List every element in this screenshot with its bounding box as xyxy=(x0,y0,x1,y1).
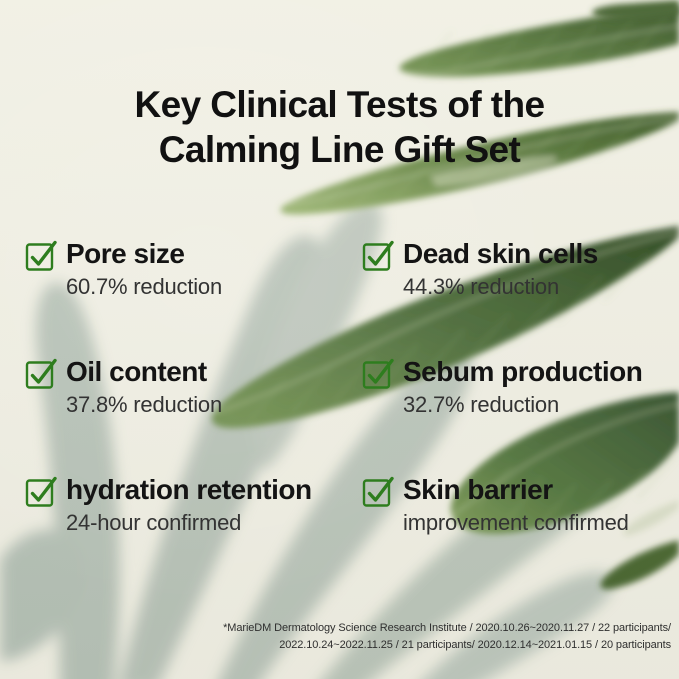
checklist-item-sebum-production: Sebum production 32.7% reduction xyxy=(363,354,642,419)
footnote-line-2: 2022.10.24~2022.11.25 / 21 participants/… xyxy=(11,637,671,654)
clinical-results-checklist: Pore size 60.7% reduction Dead skin cell… xyxy=(0,236,679,590)
checklist-item-head: hydration retention xyxy=(26,472,312,508)
checkbox-checked-icon xyxy=(363,477,393,507)
checklist-item-dead-skin-cells: Dead skin cells 44.3% reduction xyxy=(363,236,598,301)
poster-content: Key Clinical Tests of the Calming Line G… xyxy=(0,0,679,679)
clinical-test-poster: Key Clinical Tests of the Calming Line G… xyxy=(0,0,679,679)
checklist-item-label: Pore size xyxy=(66,236,184,272)
checklist-item-head: Skin barrier xyxy=(363,472,629,508)
checklist-item-label: Dead skin cells xyxy=(403,236,598,272)
checklist-item-sub: 44.3% reduction xyxy=(403,273,598,301)
checklist-item-sub: 60.7% reduction xyxy=(66,273,222,301)
title-line-1: Key Clinical Tests of the xyxy=(0,82,679,127)
checklist-item-label: Sebum production xyxy=(403,354,642,390)
checklist-row: hydration retention 24-hour confirmed Sk… xyxy=(0,472,679,590)
checklist-item-sub: 24-hour confirmed xyxy=(66,509,312,537)
checklist-item-label: Skin barrier xyxy=(403,472,553,508)
checklist-item-head: Dead skin cells xyxy=(363,236,598,272)
checklist-item-pore-size: Pore size 60.7% reduction xyxy=(26,236,222,301)
page-title: Key Clinical Tests of the Calming Line G… xyxy=(0,82,679,172)
checklist-item-sub: improvement confirmed xyxy=(403,509,629,537)
title-line-2: Calming Line Gift Set xyxy=(0,127,679,172)
checklist-item-oil-content: Oil content 37.8% reduction xyxy=(26,354,222,419)
checklist-item-hydration-retention: hydration retention 24-hour confirmed xyxy=(26,472,312,537)
checklist-item-head: Oil content xyxy=(26,354,222,390)
checklist-item-sub: 37.8% reduction xyxy=(66,391,222,419)
checklist-item-skin-barrier: Skin barrier improvement confirmed xyxy=(363,472,629,537)
checklist-row: Pore size 60.7% reduction Dead skin cell… xyxy=(0,236,679,354)
checkbox-checked-icon xyxy=(363,359,393,389)
checkbox-checked-icon xyxy=(26,359,56,389)
checklist-item-head: Sebum production xyxy=(363,354,642,390)
checklist-item-sub: 32.7% reduction xyxy=(403,391,642,419)
checkbox-checked-icon xyxy=(26,241,56,271)
checklist-row: Oil content 37.8% reduction Sebum produc… xyxy=(0,354,679,472)
footnote-line-1: *MarieDM Dermatology Science Research In… xyxy=(11,620,671,637)
checkbox-checked-icon xyxy=(26,477,56,507)
checklist-item-label: Oil content xyxy=(66,354,207,390)
checklist-item-label: hydration retention xyxy=(66,472,312,508)
checklist-item-head: Pore size xyxy=(26,236,222,272)
checkbox-checked-icon xyxy=(363,241,393,271)
study-footnote: *MarieDM Dermatology Science Research In… xyxy=(11,620,671,654)
